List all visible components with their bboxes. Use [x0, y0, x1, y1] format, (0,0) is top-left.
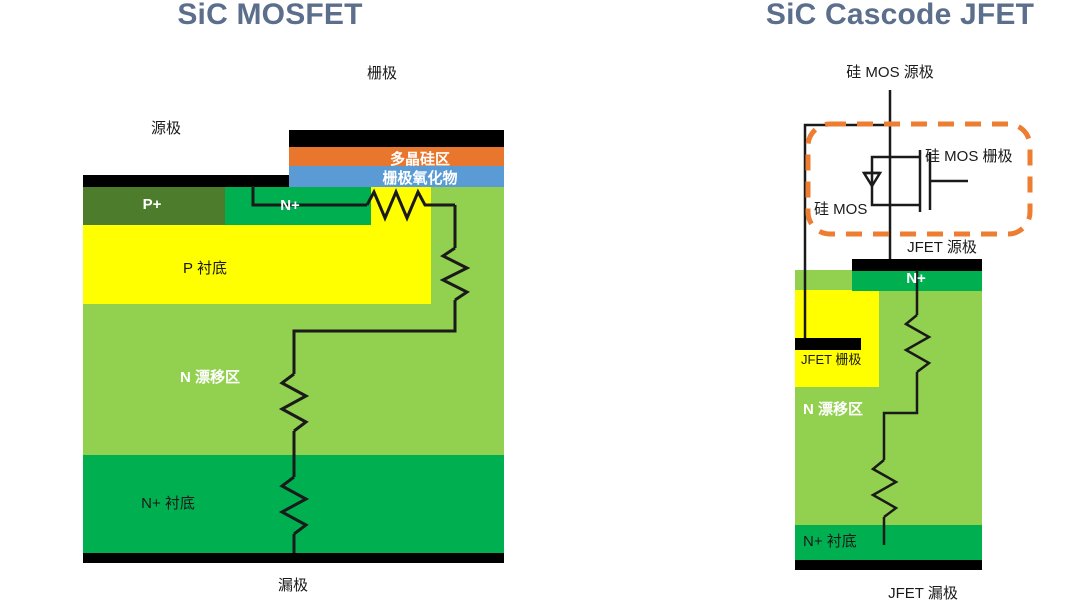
label-jfet-gate-right: JFET 栅极 — [801, 349, 861, 368]
label-n-plus-right: N+ — [878, 270, 954, 287]
label-mos-source-right: 硅 MOS 源极 — [820, 61, 960, 82]
label-jfet-source-right: JFET 源极 — [872, 236, 1012, 257]
label-n-plus-substrate-right: N+ 衬底 — [803, 530, 857, 551]
label-mos-block-right: 硅 MOS — [814, 198, 867, 219]
label-mos-gate-right: 硅 MOS 栅极 — [925, 145, 1013, 166]
label-n-drift-right: N 漂移区 — [803, 398, 863, 419]
label-jfet-drain-right: JFET 漏极 — [858, 582, 988, 603]
diagram-canvas: SiC MOSFET SiC Cascode JFET — [0, 0, 1080, 609]
right-jfet-svg — [0, 0, 1080, 609]
jfet-drain-metal-right — [795, 560, 982, 570]
